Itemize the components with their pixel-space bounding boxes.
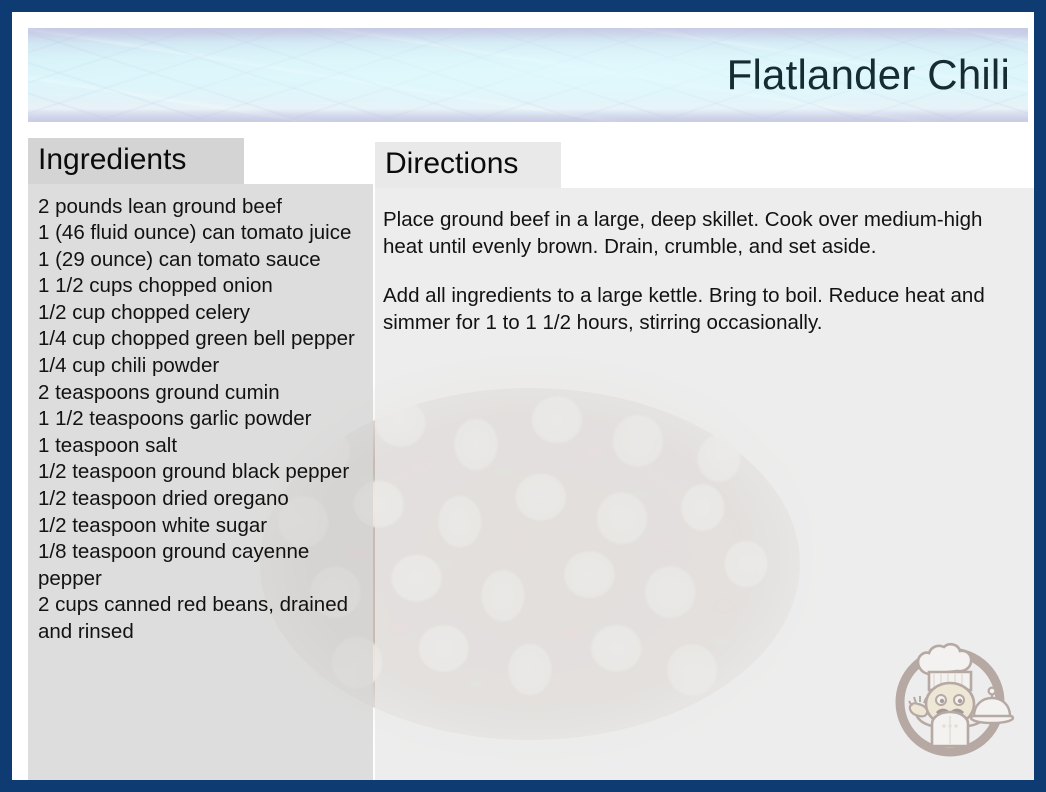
list-item: 1 (29 ounce) can tomato sauce: [38, 247, 361, 274]
directions-panel: Directions Place ground beef in a large,…: [375, 142, 1034, 782]
list-item: 1/4 cup chopped green bell pepper: [38, 326, 361, 353]
list-item: 1 1/2 cups chopped onion: [38, 273, 361, 300]
list-item: 2 cups canned red beans, drained and rin…: [38, 592, 361, 645]
ingredients-heading: Ingredients: [28, 138, 244, 184]
directions-paragraph: Add all ingredients to a large kettle. B…: [383, 282, 1012, 336]
ingredients-panel: Ingredients 2 pounds lean ground beef 1 …: [28, 138, 373, 782]
directions-heading: Directions: [375, 142, 561, 188]
list-item: 2 pounds lean ground beef: [38, 194, 361, 221]
list-item: 2 teaspoons ground cumin: [38, 380, 361, 407]
list-item: 1 1/2 teaspoons garlic powder: [38, 406, 361, 433]
page-title: Flatlander Chili: [727, 51, 1010, 99]
list-item: 1/2 cup chopped celery: [38, 300, 361, 327]
list-item: 1 (46 fluid ounce) can tomato juice: [38, 220, 361, 247]
directions-paragraph: Place ground beef in a large, deep skill…: [383, 206, 1012, 260]
header-banner: Flatlander Chili: [28, 28, 1028, 122]
list-item: 1/2 teaspoon dried oregano: [38, 486, 361, 513]
list-item: 1/4 cup chili powder: [38, 353, 361, 380]
directions-body: Place ground beef in a large, deep skill…: [375, 188, 1034, 780]
ingredients-list: 2 pounds lean ground beef 1 (46 fluid ou…: [38, 194, 361, 646]
ingredients-body: 2 pounds lean ground beef 1 (46 fluid ou…: [28, 184, 373, 782]
list-item: 1 teaspoon salt: [38, 433, 361, 460]
list-item: 1/2 teaspoon ground black pepper: [38, 459, 361, 486]
list-item: 1/8 teaspoon ground cayenne pepper: [38, 539, 361, 592]
recipe-card-page: Flatlander Chili Ingredients 2 pounds le…: [0, 0, 1046, 792]
list-item: 1/2 teaspoon white sugar: [38, 513, 361, 540]
